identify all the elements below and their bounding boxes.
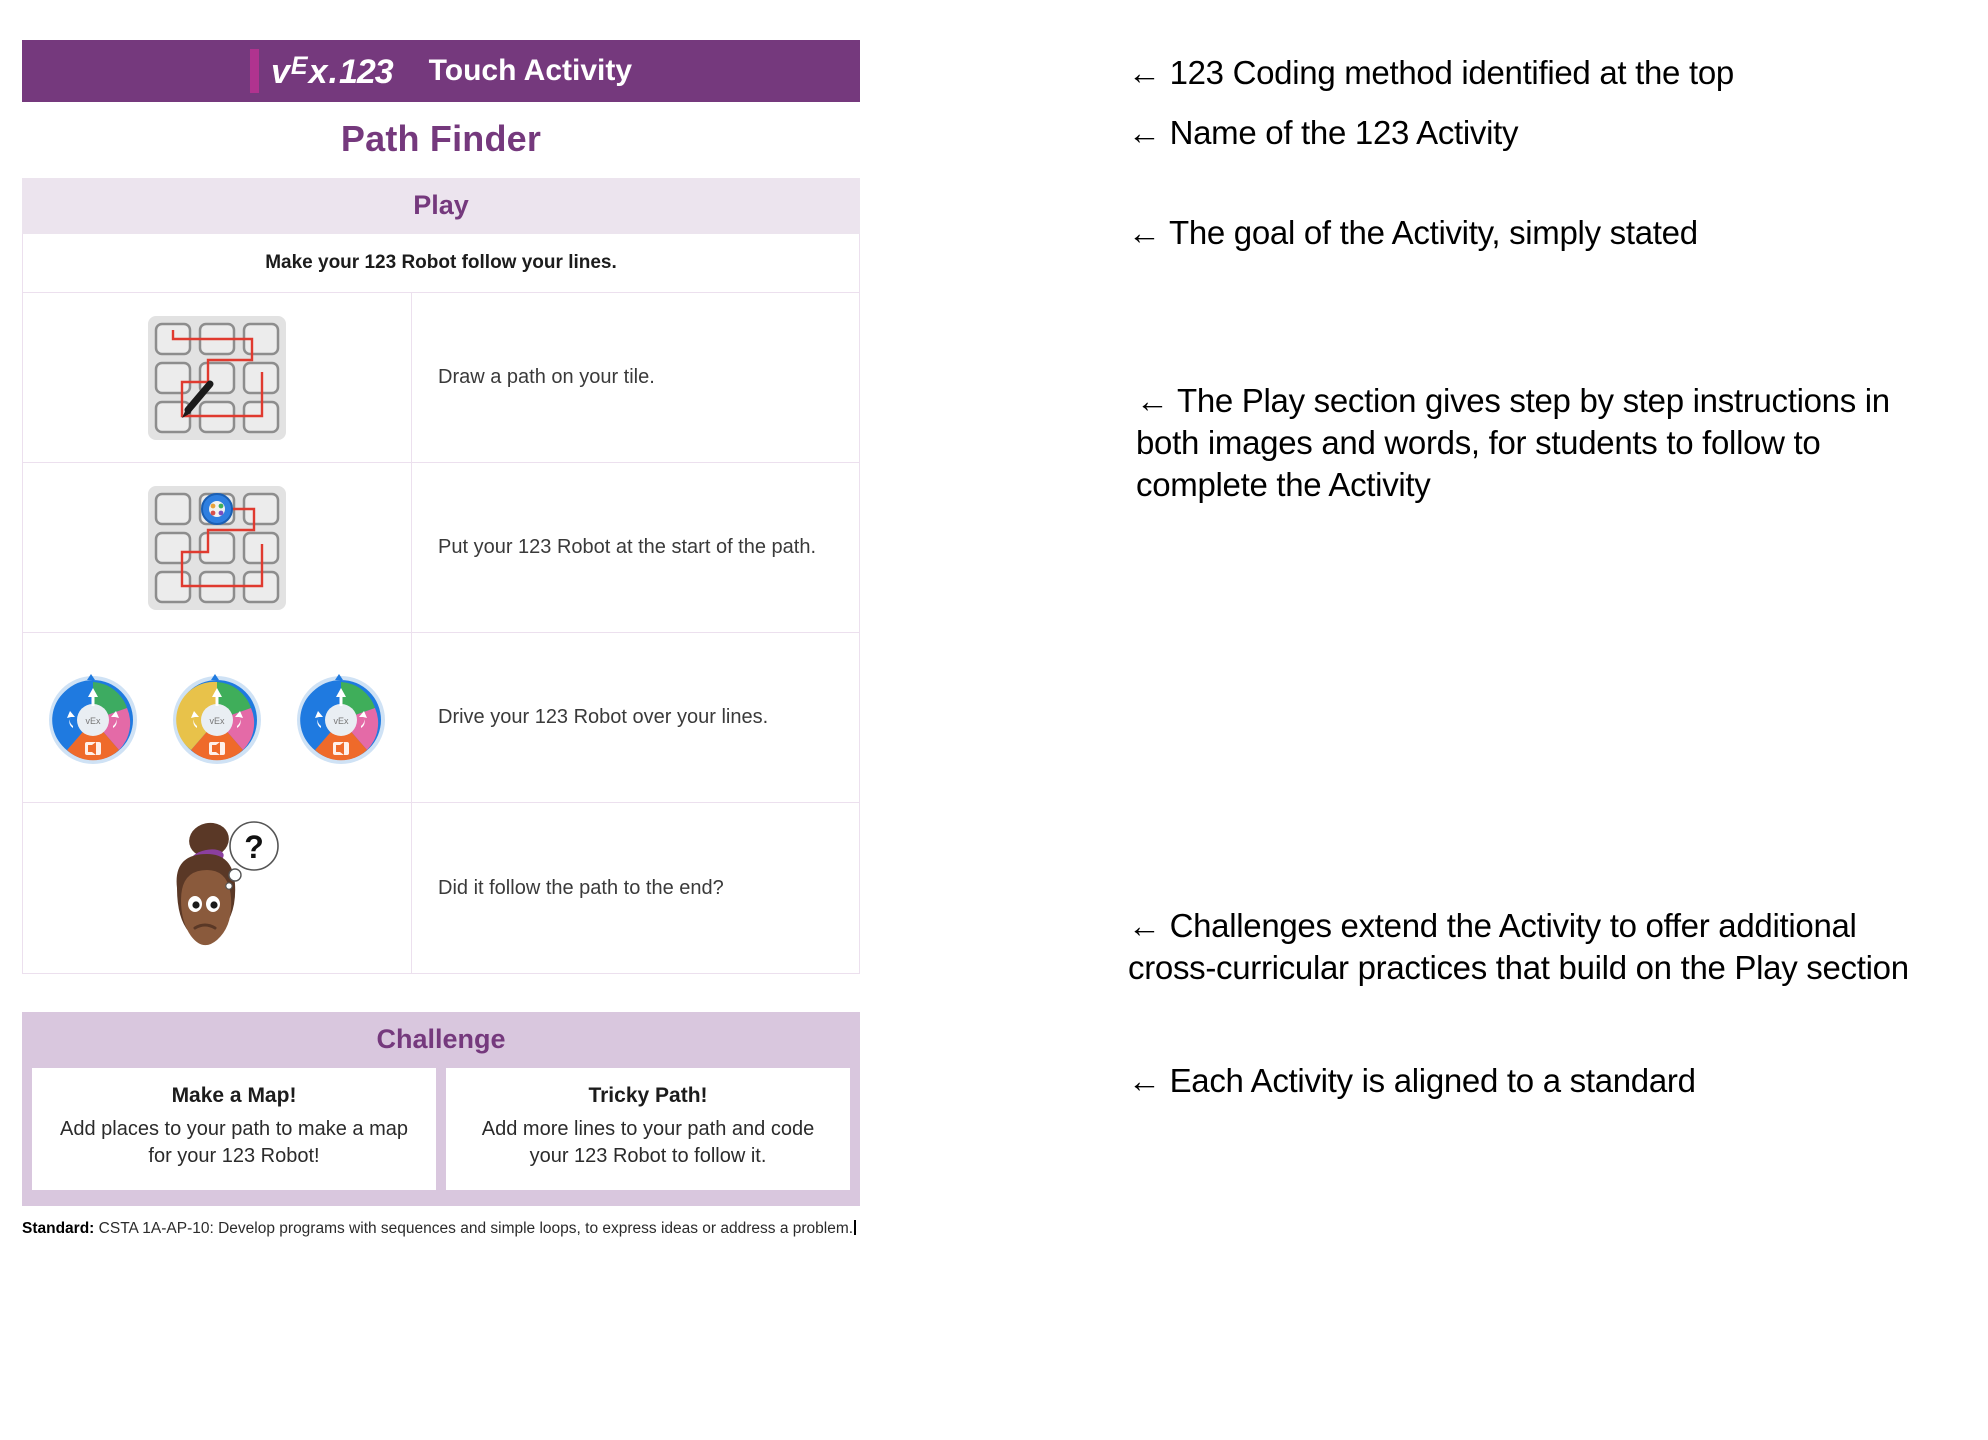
step-instruction-text: Draw a path on your tile.	[412, 293, 859, 462]
challenge-card: Tricky Path! Add more lines to your path…	[446, 1068, 850, 1190]
sheet-header: vEx.123 Touch Activity	[22, 40, 860, 102]
step-image-cell	[23, 463, 412, 632]
logo-accent-bar	[250, 49, 259, 93]
annotation-challenge-section: ← Challenges extend the Activity to offe…	[1128, 905, 1948, 989]
challenge-card-title: Tricky Path!	[464, 1084, 832, 1108]
header-activity-type: Touch Activity	[429, 54, 632, 88]
page-title: Path Finder	[22, 102, 860, 178]
svg-text:vEx: vEx	[85, 716, 101, 726]
logo-number: 123	[339, 53, 393, 91]
challenge-section-band: Challenge	[22, 1012, 860, 1068]
play-section-band: Play	[22, 178, 860, 234]
logo-x: x	[309, 53, 329, 91]
challenge-card-title: Make a Map!	[50, 1084, 418, 1108]
logo-e: E	[291, 52, 309, 80]
standard-line: Standard: CSTA 1A-AP-10: Develop program…	[22, 1220, 860, 1238]
activity-goal-text: Make your 123 Robot follow your lines.	[23, 234, 859, 293]
challenge-card: Make a Map! Add places to your path to m…	[32, 1068, 436, 1190]
annotation-activity-name: ← Name of the 123 Activity	[1128, 112, 1518, 154]
tile-grid-with-robot-at-start-icon	[142, 482, 292, 614]
standard-label: Standard:	[22, 1220, 94, 1237]
tile-grid-with-path-and-pencil-icon	[142, 312, 292, 444]
challenge-card-list: Make a Map! Add places to your path to m…	[22, 1068, 860, 1190]
logo-dot: .	[328, 53, 338, 91]
step-instruction-text: Drive your 123 Robot over your lines.	[412, 633, 859, 802]
step-instruction-text: Did it follow the path to the end?	[412, 803, 859, 973]
svg-text:vEx: vEx	[333, 716, 349, 726]
robot-button-ring-3: vEx	[291, 668, 391, 768]
text-caret	[854, 1220, 856, 1235]
challenge-card-body: Add more lines to your path and code you…	[464, 1116, 832, 1170]
table-row: Put your 123 Robot at the start of the p…	[23, 463, 859, 633]
step-image-cell	[23, 293, 412, 462]
logo-v: v	[271, 53, 291, 91]
annotation-coding-method: ← 123 Coding method identified at the to…	[1128, 52, 1734, 94]
svg-text:vEx: vEx	[209, 716, 225, 726]
step-image-cell: ?	[23, 803, 412, 973]
robot-button-ring-1: vEx	[43, 668, 143, 768]
step-image-cell: vEx	[23, 633, 412, 802]
play-section-table: Make your 123 Robot follow your lines.	[22, 234, 860, 974]
vex123-activity-sheet: vEx.123 Touch Activity Path Finder Play …	[22, 40, 860, 1238]
three-123-robot-button-rings-icon: vEx	[43, 668, 391, 768]
robot-button-ring-2: vEx	[167, 668, 267, 768]
step-instruction-text: Put your 123 Robot at the start of the p…	[412, 463, 859, 632]
challenge-section: Challenge Make a Map! Add places to your…	[22, 1012, 860, 1206]
challenge-card-body: Add places to your path to make a map fo…	[50, 1116, 418, 1170]
table-row: Draw a path on your tile.	[23, 293, 859, 463]
logo-text: vEx.123	[271, 54, 393, 89]
vex-123-logo: vEx.123	[250, 49, 393, 93]
student-thinking-question-icon: ?	[137, 818, 297, 958]
slide-canvas: vEx.123 Touch Activity Path Finder Play …	[0, 0, 1988, 1440]
annotation-play-section: ← The Play section gives step by step in…	[1136, 380, 1946, 507]
svg-text:?: ?	[244, 829, 264, 865]
robot-icon	[202, 494, 232, 524]
annotation-activity-goal: ← The goal of the Activity, simply state…	[1128, 212, 1698, 254]
table-row: ? Did it follow the path to the end?	[23, 803, 859, 973]
annotation-standard-alignment: ← Each Activity is aligned to a standard	[1128, 1060, 1696, 1102]
standard-text: CSTA 1A-AP-10: Develop programs with seq…	[99, 1220, 853, 1237]
table-row: vEx	[23, 633, 859, 803]
